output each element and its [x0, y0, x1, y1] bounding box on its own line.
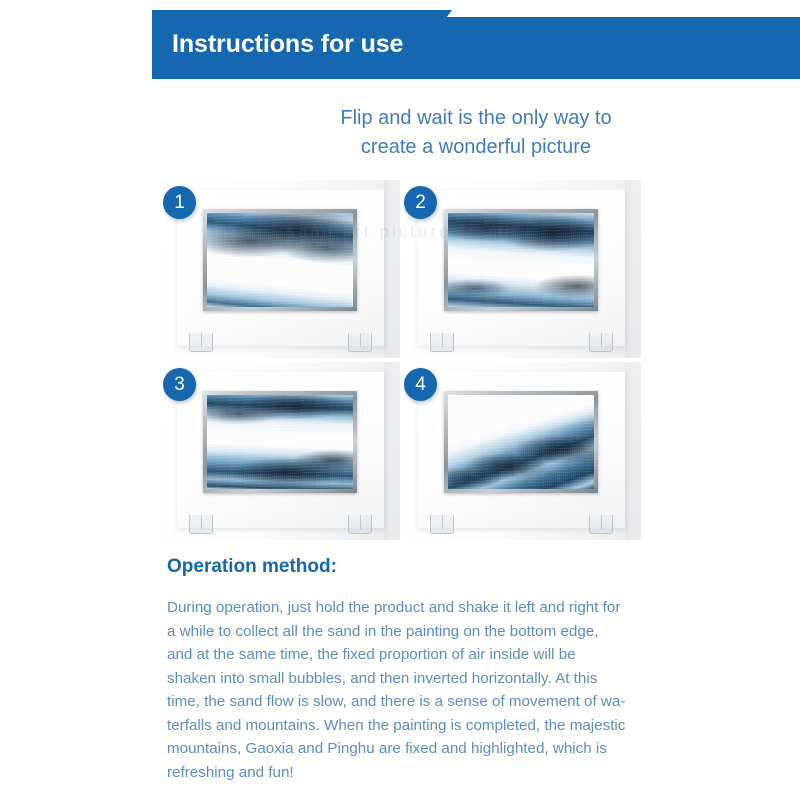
product-scene-4: [404, 362, 641, 540]
sand-grain-overlay-2: [448, 213, 594, 307]
sand-display-4: [448, 395, 594, 489]
picture-frame-outer-1: [177, 190, 384, 346]
picture-frame-bezel-1: [203, 209, 357, 311]
picture-frame-outer-3: [177, 372, 384, 528]
instructions-page: Instructions for use Flip and wait is th…: [0, 0, 800, 800]
operation-method-body: During operation, just hold the product …: [167, 596, 635, 784]
subtitle: Flip and wait is the only way to create …: [152, 104, 800, 162]
subtitle-line-1: Flip and wait is the only way to: [152, 104, 800, 133]
sand-grain-overlay-3: [207, 395, 353, 489]
step-badge-1: 1: [163, 186, 196, 219]
operation-line: During operation, just hold the product …: [167, 596, 635, 620]
picture-frame-outer-4: [418, 372, 625, 528]
step-photo-1: 1: [163, 180, 400, 358]
subtitle-line-2: create a wonderful picture: [152, 133, 800, 162]
sand-grain-overlay-1: [207, 213, 353, 307]
step-badge-2: 2: [404, 186, 437, 219]
operation-line: a while to collect all the sand in the p…: [167, 620, 635, 644]
picture-frame-bezel-4: [444, 391, 598, 493]
picture-frame-outer-2: [418, 190, 625, 346]
operation-line: terfalls and mountains. When the paintin…: [167, 714, 635, 738]
picture-frame-bezel-3: [203, 391, 357, 493]
sand-grain-overlay-4: [448, 395, 594, 489]
product-scene-1: [163, 180, 400, 358]
banner-right-shape: [398, 17, 800, 79]
steps-grid: 1 2: [163, 180, 641, 540]
step-photo-4: 4: [404, 362, 641, 540]
step-badge-4: 4: [404, 368, 437, 401]
step-photo-2: 2: [404, 180, 641, 358]
step-badge-3: 3: [163, 368, 196, 401]
header-banner: Instructions for use: [152, 10, 800, 79]
operation-line: mountains, Gaoxia and Pinghu are fixed a…: [167, 737, 635, 761]
sand-display-3: [207, 395, 353, 489]
operation-line: time, the sand flow is slow, and there i…: [167, 690, 635, 714]
operation-method-heading: Operation method:: [167, 556, 337, 578]
sand-display-1: [207, 213, 353, 307]
operation-line: shaken into small bubbles, and then inve…: [167, 667, 635, 691]
step-photo-3: 3: [163, 362, 400, 540]
operation-line: refreshing and fun!: [167, 761, 635, 785]
operation-line: and at the same time, the fixed proporti…: [167, 643, 635, 667]
sand-display-2: [448, 213, 594, 307]
page-title: Instructions for use: [172, 10, 403, 79]
product-scene-2: [404, 180, 641, 358]
product-scene-3: [163, 362, 400, 540]
picture-frame-bezel-2: [444, 209, 598, 311]
